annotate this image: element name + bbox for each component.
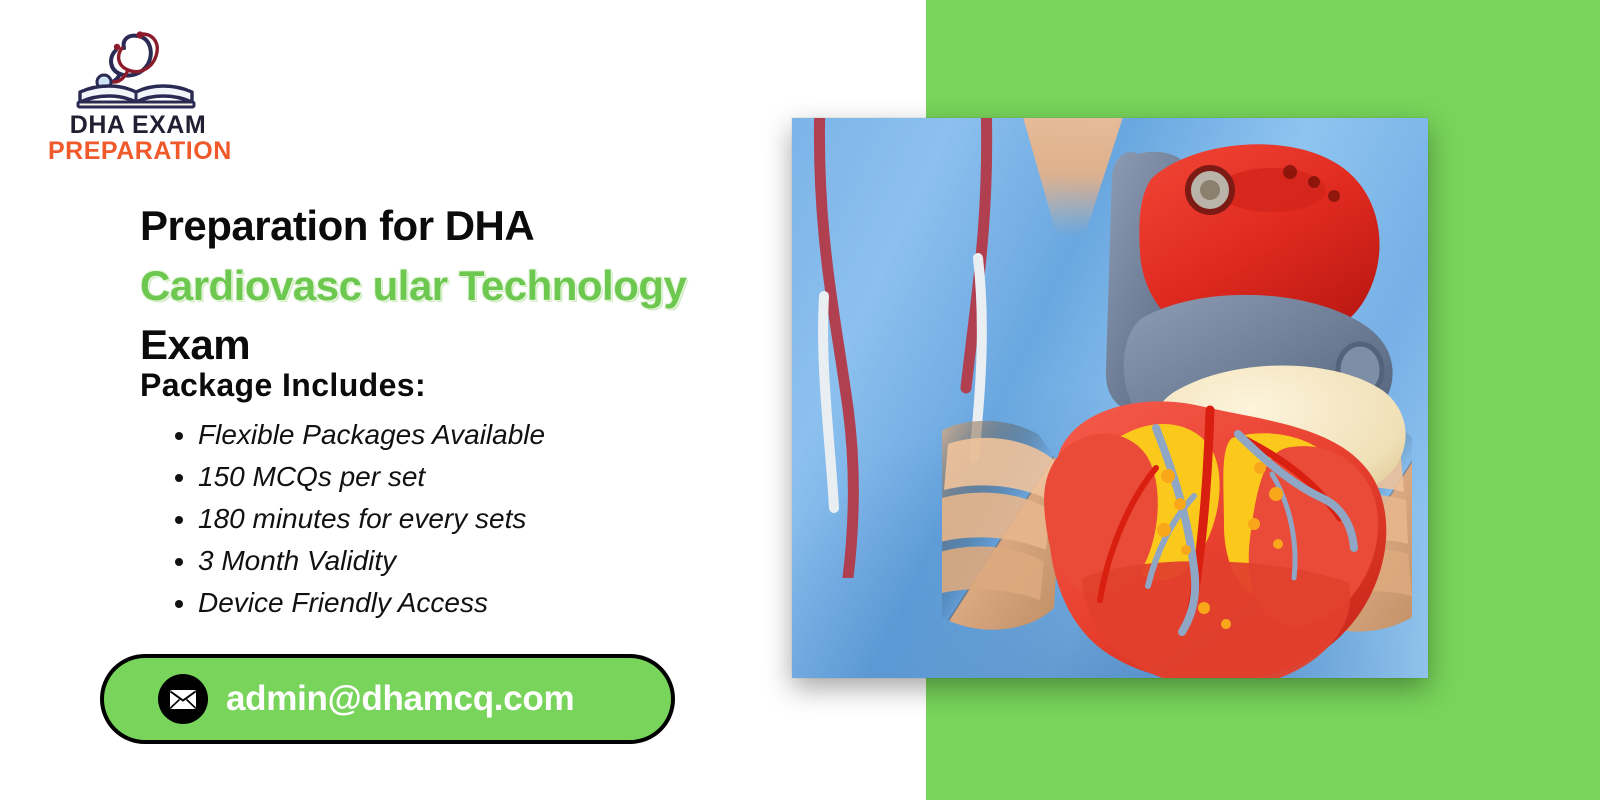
- logo-text-primary: DHA EXAM: [48, 112, 228, 138]
- heart-model-graphic: [942, 138, 1412, 678]
- list-item: 3 Month Validity: [198, 540, 545, 582]
- contact-email-text: admin@dhamcq.com: [226, 679, 574, 719]
- list-item: Flexible Packages Available: [198, 414, 545, 456]
- hero-photo-card: [792, 118, 1428, 678]
- logo-text-secondary: PREPARATION: [48, 138, 228, 164]
- poster-canvas: DHA EXAM PREPARATION Preparation for DHA…: [0, 0, 1600, 800]
- stethoscope-book-logo-icon: [72, 24, 204, 110]
- package-includes-list: Flexible Packages Available 150 MCQs per…: [160, 414, 545, 624]
- brand-logo[interactable]: DHA EXAM PREPARATION: [48, 24, 228, 165]
- contact-email-button[interactable]: admin@dhamcq.com: [100, 654, 675, 744]
- list-item: Device Friendly Access: [198, 582, 545, 624]
- headline-line-1: Preparation for DHA: [140, 196, 780, 256]
- headline-line-2: Cardiovasc ular Technology: [140, 256, 780, 316]
- hero-photo: [792, 118, 1428, 678]
- headline-line-3: Exam: [140, 315, 780, 375]
- list-item: 150 MCQs per set: [198, 456, 545, 498]
- package-includes-title: Package Includes:: [140, 367, 426, 404]
- headline-block: Preparation for DHA Cardiovasc ular Tech…: [140, 196, 780, 375]
- list-item: 180 minutes for every sets: [198, 498, 545, 540]
- envelope-icon: [158, 674, 208, 724]
